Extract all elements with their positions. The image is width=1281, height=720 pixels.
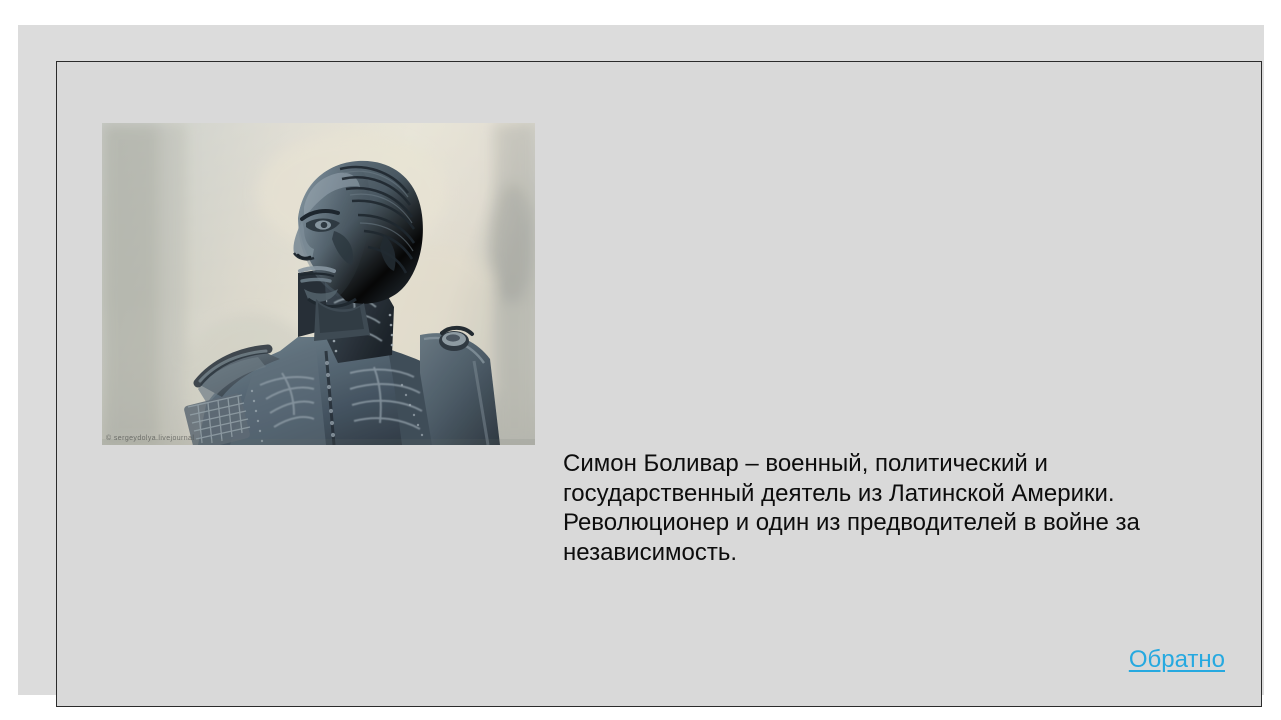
slide-page: © sergeydolya.livejournal Симон Боливар … [0,0,1281,720]
slide-frame: © sergeydolya.livejournal Симон Боливар … [56,61,1262,707]
slide-panel: © sergeydolya.livejournal Симон Боливар … [18,25,1264,695]
back-link[interactable]: Обратно [1129,645,1225,675]
back-link-container: Обратно [57,645,1225,675]
slide-paragraph: Симон Боливар – военный, политический и … [563,449,1203,567]
statue-illustration [102,123,535,445]
bolivar-statue-image: © sergeydolya.livejournal [102,123,535,445]
